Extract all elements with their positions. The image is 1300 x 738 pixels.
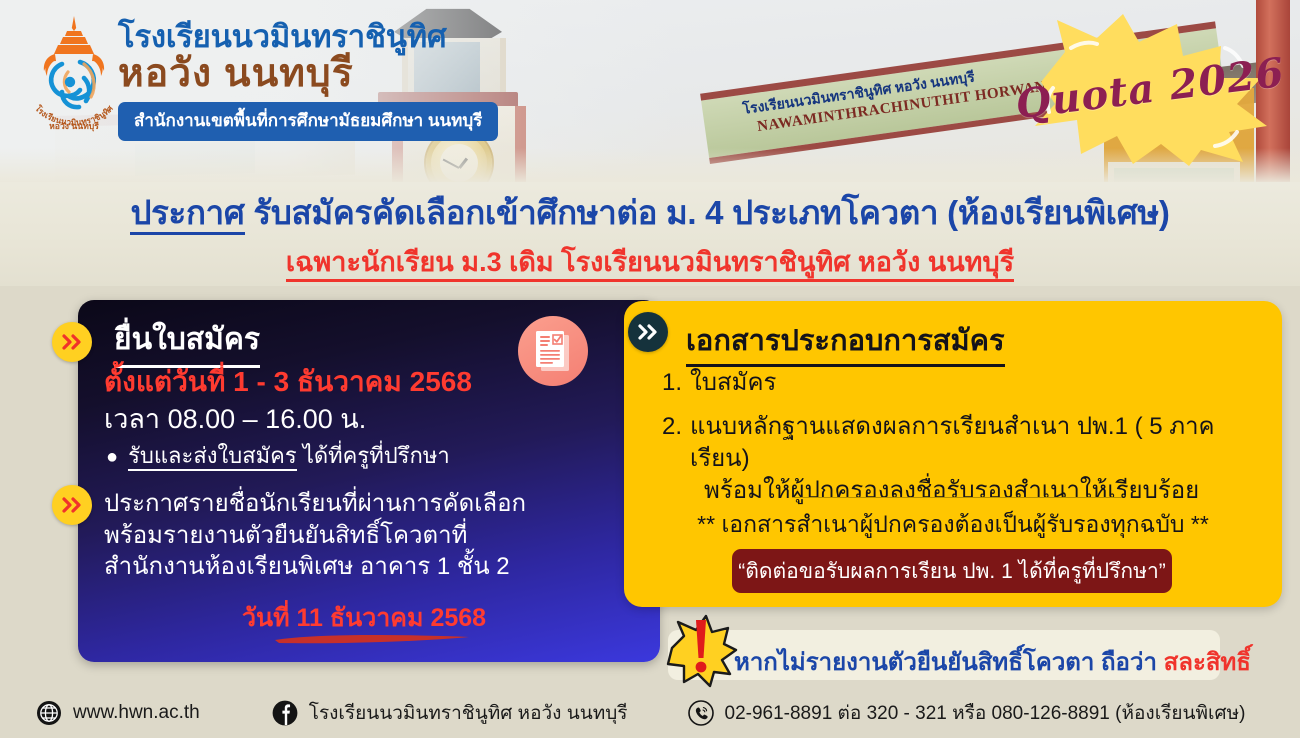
poster-root: โรงเรียนนวมินทราชินูทิศ หอวัง นนทบุรี NA… <box>0 0 1300 738</box>
footer-website-item[interactable]: www.hwn.ac.th <box>36 700 200 726</box>
document-icon-badge <box>518 316 588 386</box>
documents-note: ** เอกสารสำเนาผู้ปกครองต้องเป็นผู้รับรอง… <box>624 507 1282 543</box>
school-name-block: โรงเรียนนวมินทราชินูทิศ หอวัง นนทบุรี สำ… <box>118 20 588 141</box>
logo-caption-bottom: หอวัง นนทบุรี <box>49 121 99 132</box>
announce-line-1: ประกาศรายชื่อนักเรียนที่ผ่านการคัดเลือก <box>104 488 624 520</box>
bullet-dot-icon: ● <box>106 447 118 467</box>
bullet-underlined-text: รับและส่งใบสมัคร <box>128 443 297 471</box>
list-item-number: 1. <box>662 367 682 399</box>
sub-headline: เฉพาะนักเรียน ม.3 เดิม โรงเรียนนวมินทราช… <box>0 240 1300 283</box>
application-bullet: ● รับและส่งใบสมัคร ได้ที่ครูที่ปรึกษา <box>106 438 586 473</box>
footer-bar: www.hwn.ac.th โรงเรียนนวมินทราชินูทิศ หอ… <box>0 688 1300 738</box>
warning-main-text: หากไม่รายงานตัวยืนยันสิทธิ์โควตา ถือว่า <box>734 649 1157 676</box>
school-name-line1: โรงเรียนนวมินทราชินูทิศ <box>118 20 588 55</box>
contact-callout-box: “ติดต่อขอรับผลการเรียน ปพ. 1 ได้ที่ครูที… <box>732 549 1172 593</box>
school-name-line2: หอวัง นนทบุรี <box>118 53 588 96</box>
exclamation-burst-icon <box>660 612 738 688</box>
warning-highlight-text: สละสิทธิ์ <box>1164 649 1251 676</box>
result-announcement-block: ประกาศรายชื่อนักเรียนที่ผ่านการคัดเลือก … <box>104 488 624 583</box>
brush-underline-decoration <box>273 632 473 644</box>
document-checkmark-icon <box>533 329 573 373</box>
headline-keyword: ประกาศ <box>130 194 244 235</box>
warning-text: หากไม่รายงานตัวยืนยันสิทธิ์โควตา ถือว่า … <box>734 642 1251 681</box>
school-logo: โรงเรียนนวมินทราชินูทิศ หอวัง นนทบุรี <box>22 12 126 134</box>
footer-phone-item[interactable]: 02-961-8891 ต่อ 320 - 321 หรือ 080-126-8… <box>688 698 1246 728</box>
list-item-subline: พร้อมให้ผู้ปกครองลงชื่อรับรองสำเนาให้เรี… <box>690 475 1262 507</box>
quota-starburst-badge: Quota 2026 <box>1005 8 1295 168</box>
double-chevron-icon <box>638 324 658 340</box>
footer-website-text: www.hwn.ac.th <box>73 702 200 724</box>
globe-icon <box>36 700 62 726</box>
chevron-badge-announcement <box>52 485 92 525</box>
facebook-icon <box>272 700 298 726</box>
footer-facebook-item[interactable]: โรงเรียนนวมินทราชินูทิศ หอวัง นนทบุรี <box>272 698 628 728</box>
chevron-badge-documents <box>628 312 668 352</box>
footer-phone-text: 02-961-8891 ต่อ 320 - 321 หรือ 080-126-8… <box>725 698 1246 728</box>
list-item: 1. ใบสมัคร <box>662 367 1262 399</box>
headline-rest: รับสมัครคัดเลือกเข้าศึกษาต่อ ม. 4 ประเภท… <box>253 194 1169 231</box>
bullet-rest-text: ได้ที่ครูที่ปรึกษา <box>303 443 450 468</box>
application-time-range: เวลา 08.00 – 16.00 น. <box>104 397 366 440</box>
list-item-main: แนบหลักฐานแสดงผลการเรียนสำเนา ปพ.1 ( 5 ภ… <box>690 413 1215 472</box>
list-item: 2. แนบหลักฐานแสดงผลการเรียนสำเนา ปพ.1 ( … <box>662 411 1262 507</box>
list-item-text: แนบหลักฐานแสดงผลการเรียนสำเนา ปพ.1 ( 5 ภ… <box>690 411 1262 507</box>
footer-facebook-text: โรงเรียนนวมินทราชินูทิศ หอวัง นนทบุรี <box>309 698 628 728</box>
main-headline: ประกาศ รับสมัครคัดเลือกเข้าศึกษาต่อ ม. 4… <box>0 186 1300 239</box>
education-office-badge: สำนักงานเขตพื้นที่การศึกษามัธยมศึกษา นนท… <box>118 102 498 141</box>
panel-divider <box>792 497 1122 498</box>
announce-line-2: พร้อมรายงานตัวยืนยันสิทธิ์โควตาที่ <box>104 520 624 552</box>
phone-icon <box>688 700 714 726</box>
required-documents-panel: เอกสารประกอบการสมัคร 1. ใบสมัคร 2. แนบหล… <box>624 301 1282 607</box>
right-panel-title: เอกสารประกอบการสมัคร <box>686 317 1005 367</box>
chevron-badge-submission <box>52 322 92 362</box>
sub-headline-text: เฉพาะนักเรียน ม.3 เดิม โรงเรียนนวมินทราช… <box>286 247 1014 282</box>
announce-line-3: สำนักงานห้องเรียนพิเศษ อาคาร 1 ชั้น 2 <box>104 551 624 583</box>
list-item-number: 2. <box>662 411 682 507</box>
double-chevron-icon <box>62 334 82 350</box>
list-item-text: ใบสมัคร <box>690 367 1262 399</box>
double-chevron-icon <box>62 497 82 513</box>
